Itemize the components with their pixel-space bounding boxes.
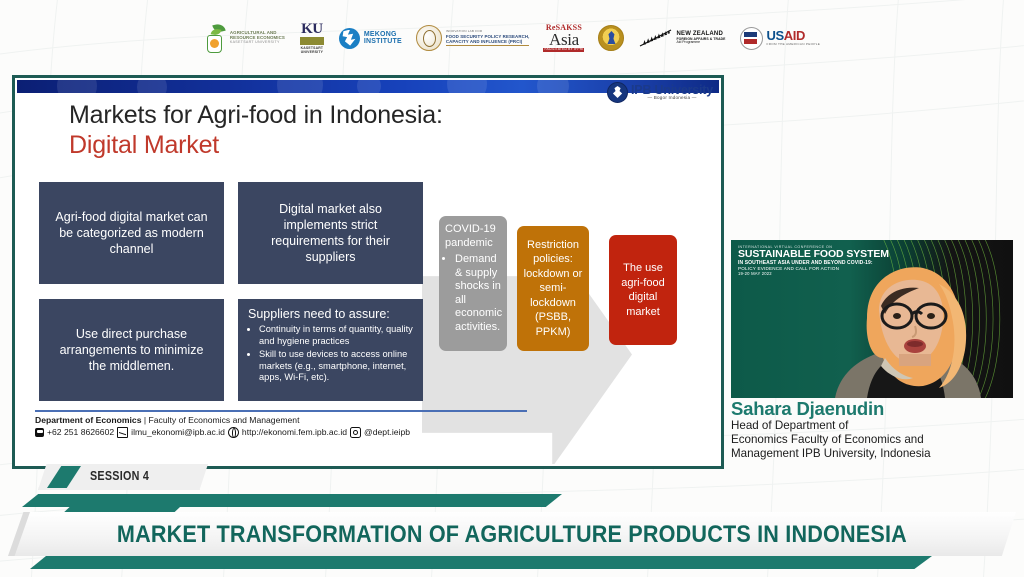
- slide-footer-divider: [35, 410, 527, 412]
- ipb-tagline: — Bogor Indonesia —: [631, 96, 713, 101]
- mail-icon: [117, 427, 128, 438]
- banner-title-text: MARKET TRANSFORMATION OF AGRICULTURE PRO…: [117, 521, 907, 549]
- silver-fern-icon: [638, 28, 672, 48]
- suppliers-bullet: Skill to use devices to access online ma…: [259, 349, 415, 384]
- garuda-seal-icon: [598, 25, 624, 51]
- presentation-slide: IPB University — Bogor Indonesia — Marke…: [12, 75, 724, 469]
- logo-kasetsart-university: KU KASETSART UNIVERSITY: [299, 23, 325, 54]
- logo-royal-thai-seal: [598, 25, 624, 51]
- speaker-role-line-3: Management IPB University, Indonesia: [731, 447, 1021, 461]
- mekong-line-1: MEKONG: [364, 31, 402, 39]
- box-modern-channel-text: Agri-food digital market can be categori…: [51, 209, 212, 257]
- leaf-jar-icon: [204, 23, 226, 53]
- slide-title-line-1: Markets for Agri-food in Indonesia:: [69, 100, 609, 130]
- banner-bottom-bar: [52, 556, 932, 569]
- backdrop-title: SUSTAINABLE FOOD SYSTEM: [738, 249, 889, 261]
- logo-usaid: USAID FROM THE AMERICAN PEOPLE: [740, 27, 821, 50]
- footer-phone: +62 251 8626602: [47, 426, 114, 439]
- flow-box-restriction: Restriction policies: lockdown or semi-l…: [517, 226, 589, 351]
- speaker-info: Sahara Djaenudin Head of Department of E…: [731, 398, 1021, 462]
- box-direct-purchase-text: Use direct purchase arrangements to mini…: [51, 326, 212, 374]
- slide-footer-contacts: +62 251 8626602 ilmu_ekonomi@ipb.ac.id h…: [35, 426, 595, 439]
- usaid-tagline: FROM THE AMERICAN PEOPLE: [767, 42, 821, 46]
- slide-footer-org: Department of Economics | Faculty of Eco…: [35, 414, 595, 426]
- globe-icon: [339, 28, 360, 49]
- logo-agricultural-resource-economics: AGRICULTURAL AND RESOURCE ECONOMICS KASE…: [204, 23, 285, 53]
- usaid-seal-icon: [740, 27, 763, 50]
- flow-box-digital-market: The use agri-food digital market: [609, 235, 677, 345]
- session-tab: SESSION 4: [38, 464, 208, 490]
- suppliers-bullet-list: Continuity in terms of quantity, quality…: [248, 324, 415, 384]
- footer-faculty: Faculty of Economics and Management: [149, 415, 300, 425]
- speaker-portrait: [827, 262, 987, 398]
- footer-instagram: @dept.ieipb: [364, 426, 410, 439]
- resakss-tagline: FACILITATED BY IFPRI: [543, 48, 584, 52]
- slide-footer: Department of Economics | Faculty of Eco…: [35, 414, 595, 439]
- logo-resakss-asia: ReSAKSS Asia FACILITATED BY IFPRI: [543, 24, 584, 52]
- suppliers-bullet: Continuity in terms of quantity, quality…: [259, 324, 415, 347]
- speaker-role-line-1: Head of Department of: [731, 419, 1021, 433]
- footer-website: http://ekonomi.fem.ipb.ac.id: [242, 426, 347, 439]
- ku-monogram: KU: [299, 23, 325, 36]
- box-modern-channel: Agri-food digital market can be categori…: [39, 182, 224, 284]
- speaker-name: Sahara Djaenudin: [731, 398, 1021, 419]
- prci-seal-icon: [416, 25, 442, 51]
- speaker-video-tile[interactable]: INTERNATIONAL VIRTUAL CONFERENCE ON SUST…: [731, 240, 1013, 398]
- ku-bar-decor: [300, 37, 324, 45]
- resakss-asia-word: Asia: [543, 32, 584, 48]
- nz-line-3: Aid Programme: [676, 41, 725, 45]
- slide-title: Markets for Agri-food in Indonesia: Digi…: [69, 100, 609, 160]
- screen: AGRICULTURAL AND RESOURCE ECONOMICS KASE…: [0, 0, 1024, 577]
- flow-covid-bullet: Demand & supply shocks in all economic a…: [455, 253, 501, 334]
- globe-icon: [228, 427, 239, 438]
- instagram-icon: [350, 427, 361, 438]
- slide-title-line-2: Digital Market: [69, 130, 609, 160]
- footer-email: ilmu_ekonomi@ipb.ac.id: [131, 426, 225, 439]
- sponsor-logo-bar: AGRICULTURAL AND RESOURCE ECONOMICS KASE…: [0, 14, 1024, 62]
- speaker-role-line-2: Economics Faculty of Economics and: [731, 433, 1021, 447]
- flow-restriction-text: Restriction policies: lockdown or semi-l…: [523, 238, 583, 340]
- logo-mekong-institute: MEKONG INSTITUTE: [339, 28, 402, 49]
- box-suppliers-need-to-assure: Suppliers need to assure: Continuity in …: [238, 299, 423, 401]
- flow-box-covid: COVID-19 pandemic Demand & supply shocks…: [439, 216, 507, 351]
- ku-subtitle: KASETSART UNIVERSITY: [299, 46, 325, 54]
- footer-separator: |: [144, 415, 146, 425]
- flow-covid-bullets: Demand & supply shocks in all economic a…: [445, 253, 501, 334]
- footer-dept: Department of Economics: [35, 415, 142, 425]
- bottom-banner: MARKET TRANSFORMATION OF AGRICULTURE PRO…: [0, 490, 1024, 577]
- banner-title: MARKET TRANSFORMATION OF AGRICULTURE PRO…: [0, 521, 1024, 549]
- session-label: SESSION 4: [90, 469, 149, 483]
- suppliers-heading: Suppliers need to assure:: [248, 307, 415, 321]
- backdrop-eyebrow: INTERNATIONAL VIRTUAL CONFERENCE ON: [738, 245, 889, 249]
- flow-covid-heading: COVID-19 pandemic: [445, 223, 501, 250]
- logo-line-3: KASETSART UNIVERSITY: [230, 41, 285, 45]
- ipb-university-logo: IPB University — Bogor Indonesia —: [607, 82, 713, 103]
- box-strict-requirements-text: Digital market also implements strict re…: [250, 201, 411, 265]
- flow-digital-market-text: The use agri-food digital market: [615, 261, 671, 319]
- prci-line-3: CAPACITY AND INFLUENCE (PRCI): [446, 39, 530, 44]
- logo-prci: INNOVATION LAB FOR FOOD SECURITY POLICY …: [416, 25, 530, 51]
- box-strict-requirements: Digital market also implements strict re…: [238, 182, 423, 284]
- phone-icon: [35, 428, 44, 437]
- mekong-line-2: INSTITUTE: [364, 38, 402, 46]
- logo-new-zealand-mfat: NEW ZEALAND FOREIGN AFFAIRS & TRADE Aid …: [638, 28, 725, 48]
- usaid-wordmark: USAID: [767, 30, 821, 42]
- box-direct-purchase: Use direct purchase arrangements to mini…: [39, 299, 224, 401]
- ipb-crest-icon: [607, 82, 628, 103]
- banner-top-bar: [22, 494, 562, 507]
